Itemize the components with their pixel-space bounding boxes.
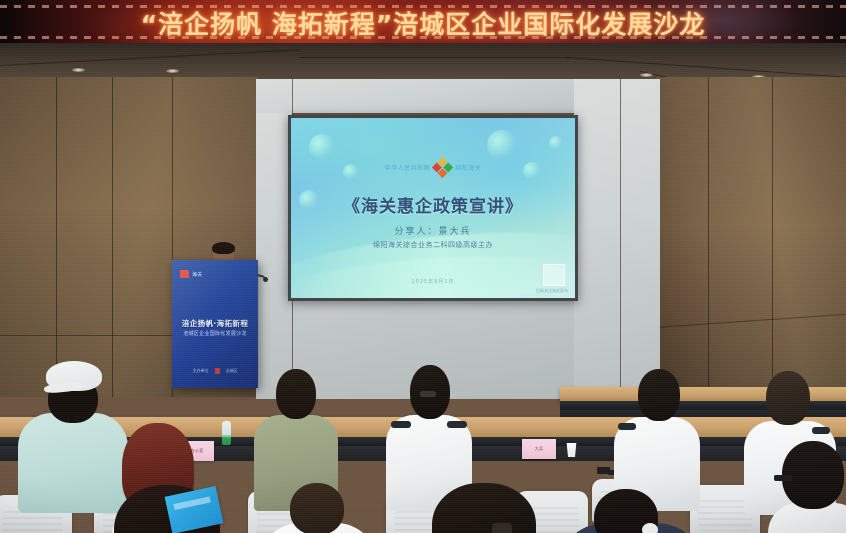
podium-logo: 海关 (180, 270, 203, 278)
officer-right-b-epaulette-right (812, 427, 830, 434)
slide-date: 2025年9月1日 (291, 278, 575, 285)
podium-sub-text: 涪城区企业国际化发展沙龙 (172, 330, 258, 337)
conference-room: 中华人民共和国 绵阳海关 《海关惠企政策宣讲》 分享人：景大兵 绵阳海关综合业务… (0, 43, 846, 533)
officer-center-epaulette-right (447, 421, 467, 428)
slide-bokeh-1 (309, 134, 335, 160)
ceiling-downlight-1 (72, 68, 85, 72)
ceiling-seam-2 (300, 57, 570, 58)
ceiling-downlight-2 (166, 69, 179, 73)
wall-seam-center-2 (620, 79, 621, 399)
slide-title: 《海关惠企政策宣讲》 (291, 192, 575, 217)
attendee-long-hair-mid (428, 483, 540, 533)
attendee-officer-right-b-head (766, 371, 810, 425)
wall-panel-right (656, 77, 846, 407)
banner-title-text: “涪企扬帆 海拓新程”涪城区企业国际化发展沙龙 (0, 0, 846, 45)
podium-footer: 主办单位 涪城区 (172, 368, 258, 374)
podium-main-text: 涪企扬帆·海拓新程 (172, 318, 258, 329)
wall-panel-center-right (574, 79, 660, 399)
slide-logo-right-text: 绵阳海关 (455, 163, 481, 172)
wall-seam-right-2 (772, 77, 773, 407)
slide-affiliation: 绵阳海关综合业务二科四级高级主办 (291, 240, 575, 250)
hair-clip-icon (420, 391, 436, 397)
slide-qr-label: 扫码关注海关发布 (536, 288, 568, 294)
wall-seam-left-2 (112, 77, 113, 397)
eyeglasses-icon (774, 475, 792, 481)
podium: 海关 涪企扬帆·海拓新程 涪城区企业国际化发展沙龙 主办单位 涪城区 (172, 260, 258, 388)
attendee-navy-shirt (556, 489, 706, 533)
podium-footer-right-text: 涪城区 (226, 368, 238, 374)
slide-presenter: 分享人：景大兵 (291, 224, 575, 237)
hair-clip-mid-icon (492, 523, 512, 533)
customs-diamond-icon (432, 157, 453, 178)
projection-screen-frame: 中华人民共和国 绵阳海关 《海关惠企政策宣讲》 分享人：景大兵 绵阳海关综合业务… (288, 115, 578, 301)
microphone-icon (263, 277, 268, 282)
attendee-white-tshirt (258, 483, 378, 533)
qr-code-icon (543, 264, 565, 286)
attendee-olive-shirt-head (276, 369, 316, 419)
podium-logo-text: 海关 (192, 271, 203, 278)
ceiling-downlight-3 (640, 73, 653, 77)
attendee-long-hair-mid-head (432, 483, 536, 533)
event-banner: “涪企扬帆 海拓新程”涪城区企业国际化发展沙龙 (0, 0, 846, 45)
podium-logo-mark-icon (180, 270, 189, 278)
attendee-officer-right-a-head (638, 369, 680, 421)
wall-seam-right-h (656, 314, 846, 328)
projection-screen: 中华人民共和国 绵阳海关 《海关惠企政策宣讲》 分享人：景大兵 绵阳海关综合业务… (291, 118, 575, 298)
speaker-hair (212, 242, 235, 254)
slide-bokeh-5 (549, 136, 563, 150)
podium-footer-mark-icon (215, 368, 220, 374)
attendee-officer-right-a (614, 369, 700, 509)
officer-right-a-epaulette-left (618, 423, 636, 430)
namecard-right-text: 大兵 (535, 446, 544, 452)
officer-center-epaulette-left (391, 421, 411, 428)
slide-header-logo: 中华人民共和国 绵阳海关 (291, 160, 575, 175)
wall-seam-left-1 (56, 77, 57, 397)
podium-footer-left-text: 主办单位 (193, 368, 209, 374)
water-bottle (222, 421, 231, 445)
slide-logo-left-text: 中华人民共和国 (385, 163, 431, 172)
slide-bokeh-3 (487, 130, 517, 160)
attendee-glasses-right (772, 441, 846, 533)
conference-photo-scene: “涪企扬帆 海拓新程”涪城区企业国际化发展沙龙 (0, 0, 846, 533)
namecard-right: 大兵 (522, 439, 556, 459)
wall-seam-right-1 (708, 77, 709, 407)
ponytail-scrunchie-icon (642, 523, 658, 533)
attendee-white-tshirt-head (290, 483, 344, 533)
